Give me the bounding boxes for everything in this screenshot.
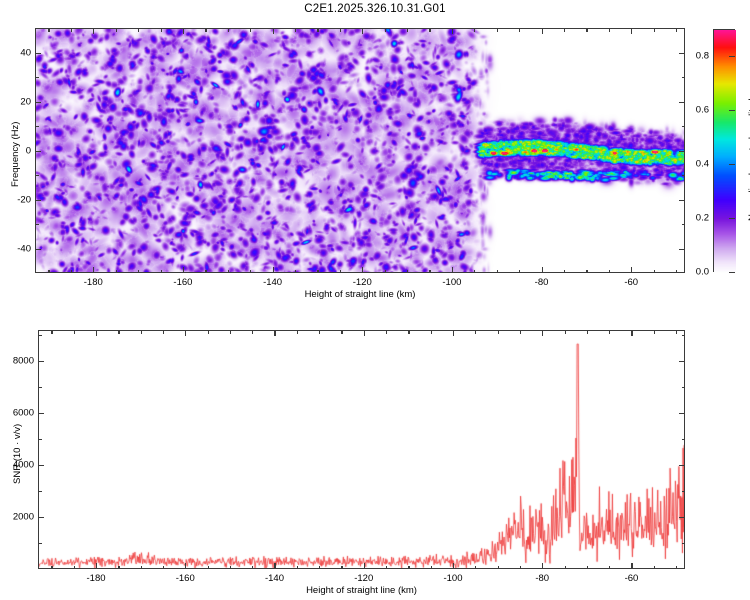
spectrogram-panel: [35, 28, 685, 273]
colorbar-tick-mark: [729, 272, 735, 273]
spectrogram-xtick-minor: [407, 270, 408, 274]
snr-xtick-minor-top: [676, 330, 677, 334]
snr-xtick-label: -160: [176, 573, 195, 584]
snr-xtick-major-top: [364, 330, 365, 336]
spectrogram-ytick-minor-right: [682, 224, 686, 225]
figure-root: C2E1.2025.326.10.31.G01 -180-160-140-120…: [0, 0, 750, 600]
snr-xtick-minor: [230, 566, 231, 570]
spectrogram-xtick-minor-top: [676, 28, 677, 32]
snr-xtick-minor: [654, 566, 655, 570]
spectrogram-xtick-major-top: [452, 28, 453, 34]
spectrogram-ytick-label: -40: [11, 243, 31, 254]
snr-xtick-minor: [408, 566, 409, 570]
snr-ytick-minor: [38, 335, 42, 336]
snr-xtick-minor-top: [208, 330, 209, 334]
spectrogram-ytick-major: [35, 249, 41, 250]
spectrogram-ytick-major: [35, 102, 41, 103]
snr-ytick-major-right: [679, 413, 685, 414]
snr-xtick-label: -80: [535, 573, 549, 584]
snr-xtick-minor-top: [252, 330, 253, 334]
snr-xtick-minor: [208, 566, 209, 570]
spectrogram-xtick-minor: [161, 270, 162, 274]
snr-xtick-minor: [118, 566, 119, 570]
spectrogram-xtick-minor-top: [295, 28, 296, 32]
spectrogram-xtick-minor-top: [48, 28, 49, 32]
snr-xtick-minor: [163, 566, 164, 570]
spectrogram-ytick-minor: [35, 126, 39, 127]
colorbar-tick-mark: [729, 164, 735, 165]
snr-ytick-major-right: [679, 361, 685, 362]
spectrogram-xtick-minor: [71, 270, 72, 274]
snr-line-plot: [39, 331, 685, 569]
colorbar-tick-mark: [729, 110, 735, 111]
colorbar-tick-mark: [729, 56, 735, 57]
spectrogram-xtick-minor-top: [138, 28, 139, 32]
spectrogram-ytick-major: [35, 200, 41, 201]
snr-xtick-minor: [587, 566, 588, 570]
snr-xtick-label: -120: [354, 573, 373, 584]
snr-xtick-minor-top: [475, 330, 476, 334]
snr-xtick-minor: [319, 566, 320, 570]
spectrogram-ytick-major-right: [679, 200, 685, 201]
colorbar-tick-label: 0.6: [685, 105, 709, 116]
snr-ytick-label: 2000: [4, 512, 34, 523]
snr-xtick-minor: [565, 566, 566, 570]
snr-xtick-minor-top: [587, 330, 588, 334]
spectrogram-xtick-major-top: [183, 28, 184, 34]
snr-xtick-minor-top: [609, 330, 610, 334]
spectrogram-xtick-minor-top: [474, 28, 475, 32]
spectrogram-xtick-minor: [654, 270, 655, 274]
spectrogram-ytick-minor-right: [682, 77, 686, 78]
spectrogram-xtick-minor-top: [407, 28, 408, 32]
snr-xtick-minor: [386, 566, 387, 570]
snr-xtick-minor-top: [163, 330, 164, 334]
snr-xtick-minor-top: [520, 330, 521, 334]
snr-ytick-minor: [38, 543, 42, 544]
spectrogram-ytick-minor-right: [682, 175, 686, 176]
spectrogram-ytick-major-right: [679, 151, 685, 152]
snr-xtick-major-top: [631, 330, 632, 336]
spectrogram-xtick-minor-top: [116, 28, 117, 32]
spectrogram-xtick-label: -160: [173, 277, 192, 288]
snr-xtick-minor-top: [319, 330, 320, 334]
snr-xtick-minor-top: [408, 330, 409, 334]
spectrogram-ytick-label: 20: [11, 96, 31, 107]
colorbar-gradient: [714, 30, 736, 273]
snr-ytick-major: [38, 361, 44, 362]
snr-xtick-minor: [676, 566, 677, 570]
snr-ytick-major-right: [679, 517, 685, 518]
snr-xtick-major-top: [185, 330, 186, 336]
spectrogram-xtick-minor-top: [228, 28, 229, 32]
spectrogram-xtick-major: [452, 267, 453, 273]
snr-xtick-minor-top: [297, 330, 298, 334]
colorbar-tick-label: 0.2: [685, 213, 709, 224]
colorbar-tick-label: 0.8: [685, 51, 709, 62]
spectrogram-xtick-major-top: [273, 28, 274, 34]
spectrogram-xtick-minor-top: [161, 28, 162, 32]
snr-ytick-minor-right: [682, 335, 686, 336]
spectrogram-xtick-minor: [586, 270, 587, 274]
spectrogram-xtick-major-top: [362, 28, 363, 34]
snr-xtick-minor-top: [141, 330, 142, 334]
spectrogram-xtick-label: -80: [535, 277, 549, 288]
spectrogram-ytick-major: [35, 151, 41, 152]
spectrogram-xtick-minor: [676, 270, 677, 274]
snr-xtick-minor-top: [386, 330, 387, 334]
snr-x-axis-label: Height of straight line (km): [306, 585, 417, 596]
snr-xtick-minor: [520, 566, 521, 570]
spectrogram-xtick-minor: [564, 270, 565, 274]
spectrogram-xtick-minor-top: [429, 28, 430, 32]
spectrogram-ytick-major: [35, 53, 41, 54]
spectrogram-xtick-minor: [295, 270, 296, 274]
spectrogram-ytick-minor-right: [682, 126, 686, 127]
snr-xtick-minor: [475, 566, 476, 570]
snr-y-axis-label: SNR (10 · v/v): [12, 423, 23, 483]
snr-xtick-minor-top: [565, 330, 566, 334]
spectrogram-xtick-minor: [474, 270, 475, 274]
spectrogram-xtick-minor: [429, 270, 430, 274]
snr-xtick-minor: [74, 566, 75, 570]
snr-xtick-minor-top: [74, 330, 75, 334]
snr-xtick-minor: [431, 566, 432, 570]
spectrogram-xtick-minor: [205, 270, 206, 274]
snr-xtick-minor: [498, 566, 499, 570]
colorbar-tick-label: 0.0: [685, 267, 709, 278]
spectrogram-xtick-minor-top: [609, 28, 610, 32]
snr-xtick-minor: [141, 566, 142, 570]
spectrogram-xtick-minor-top: [71, 28, 72, 32]
spectrogram-xtick-minor: [385, 270, 386, 274]
spectrogram-xtick-minor: [48, 270, 49, 274]
spectrogram-xtick-minor: [497, 270, 498, 274]
spectrogram-xtick-major: [93, 267, 94, 273]
spectrogram-xtick-minor: [519, 270, 520, 274]
colorbar-tick-mark: [729, 218, 735, 219]
snr-xtick-major: [453, 563, 454, 569]
spectrogram-xtick-minor-top: [340, 28, 341, 32]
snr-ytick-label: 6000: [4, 408, 34, 419]
snr-xtick-major-top: [453, 330, 454, 336]
spectrogram-ytick-minor: [35, 77, 39, 78]
spectrogram-xtick-minor: [228, 270, 229, 274]
spectrogram-xtick-minor: [116, 270, 117, 274]
snr-xtick-major: [542, 563, 543, 569]
snr-xtick-major-top: [96, 330, 97, 336]
snr-xtick-minor-top: [654, 330, 655, 334]
snr-xtick-minor-top: [230, 330, 231, 334]
colorbar-tick-label: 0.4: [685, 159, 709, 170]
snr-xtick-minor: [609, 566, 610, 570]
figure-title: C2E1.2025.326.10.31.G01: [0, 3, 750, 15]
snr-xtick-minor: [341, 566, 342, 570]
snr-ytick-major: [38, 413, 44, 414]
spectrogram-xtick-label: -180: [84, 277, 103, 288]
spectrogram-xtick-label: -140: [263, 277, 282, 288]
snr-xtick-major-top: [542, 330, 543, 336]
snr-xtick-major: [185, 563, 186, 569]
spectrogram-ytick-minor: [35, 224, 39, 225]
spectrogram-xtick-minor: [317, 270, 318, 274]
snr-xtick-label: -100: [443, 573, 462, 584]
snr-xtick-minor-top: [498, 330, 499, 334]
spectrogram-y-axis-label: Frequency (Hz): [10, 121, 21, 186]
snr-xtick-major: [364, 563, 365, 569]
snr-ytick-major: [38, 465, 44, 466]
spectrogram-xtick-minor-top: [497, 28, 498, 32]
spectrogram-xtick-minor: [340, 270, 341, 274]
snr-xtick-label: -60: [625, 573, 639, 584]
spectrogram-xtick-minor-top: [564, 28, 565, 32]
spectrogram-xtick-minor: [250, 270, 251, 274]
spectrogram-ytick-minor: [35, 175, 39, 176]
snr-xtick-minor-top: [51, 330, 52, 334]
snr-xtick-label: -140: [265, 573, 284, 584]
spectrogram-xtick-major: [183, 267, 184, 273]
spectrogram-xtick-minor-top: [586, 28, 587, 32]
spectrogram-xtick-major: [542, 267, 543, 273]
snr-xtick-major: [631, 563, 632, 569]
spectrogram-ytick-label: 40: [11, 47, 31, 58]
spectrogram-xtick-major-top: [631, 28, 632, 34]
snr-ytick-major: [38, 517, 44, 518]
colorbar: [713, 29, 735, 272]
spectrogram-xtick-major: [362, 267, 363, 273]
snr-xtick-label: -180: [86, 573, 105, 584]
spectrogram-xtick-major-top: [542, 28, 543, 34]
snr-xtick-minor-top: [341, 330, 342, 334]
snr-panel: [38, 330, 685, 569]
snr-xtick-minor-top: [431, 330, 432, 334]
snr-xtick-minor: [297, 566, 298, 570]
spectrogram-xtick-minor: [138, 270, 139, 274]
spectrogram-xtick-label: -60: [624, 277, 638, 288]
spectrogram-ytick-major-right: [679, 102, 685, 103]
spectrogram-xtick-minor-top: [519, 28, 520, 32]
spectrogram-xtick-major-top: [93, 28, 94, 34]
spectrogram-xtick-minor-top: [317, 28, 318, 32]
snr-ytick-major-right: [679, 465, 685, 466]
spectrogram-ytick-label: -20: [11, 194, 31, 205]
spectrogram-xtick-minor-top: [385, 28, 386, 32]
spectrogram-image: [36, 29, 685, 273]
spectrogram-xtick-major: [631, 267, 632, 273]
snr-xtick-major-top: [274, 330, 275, 336]
snr-ytick-minor: [38, 491, 42, 492]
spectrogram-xtick-minor-top: [205, 28, 206, 32]
snr-xtick-major: [274, 563, 275, 569]
snr-ytick-minor: [38, 439, 42, 440]
spectrogram-ytick-major-right: [679, 249, 685, 250]
spectrogram-xtick-minor-top: [250, 28, 251, 32]
spectrogram-xtick-label: -100: [442, 277, 461, 288]
snr-xtick-major: [96, 563, 97, 569]
spectrogram-xtick-label: -120: [353, 277, 372, 288]
snr-ytick-minor-right: [682, 491, 686, 492]
spectrogram-xtick-minor: [609, 270, 610, 274]
snr-xtick-minor-top: [118, 330, 119, 334]
spectrogram-xtick-minor-top: [654, 28, 655, 32]
snr-xtick-minor: [252, 566, 253, 570]
snr-ytick-label: 8000: [4, 356, 34, 367]
snr-xtick-minor: [51, 566, 52, 570]
snr-ytick-minor-right: [682, 387, 686, 388]
spectrogram-xtick-major: [273, 267, 274, 273]
snr-ytick-minor-right: [682, 543, 686, 544]
snr-ytick-minor: [38, 387, 42, 388]
spectrogram-x-axis-label: Height of straight line (km): [305, 289, 416, 300]
snr-ytick-minor-right: [682, 439, 686, 440]
